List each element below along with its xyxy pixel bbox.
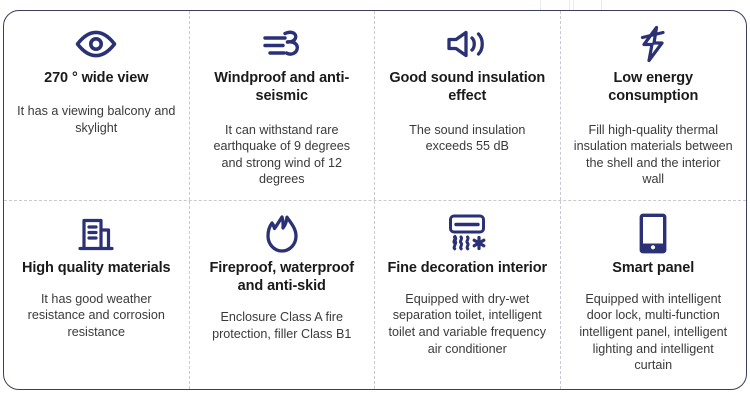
wind-icon (261, 21, 303, 67)
speaker-icon (445, 21, 489, 67)
feature-title: Fine decoration interior (385, 259, 549, 277)
feature-cell-windproof[interactable]: Windproof and anti-seismic It can withst… (190, 11, 376, 200)
feature-title: Good sound insulation effect (385, 69, 550, 106)
feature-row-top: 270 ° wide view It has a viewing balcony… (4, 11, 746, 201)
air-conditioner-icon (442, 211, 492, 257)
feature-cell-wide-view[interactable]: 270 ° wide view It has a viewing balcony… (4, 11, 190, 200)
feature-cell-high-quality-materials[interactable]: High quality materials It has good weath… (4, 201, 190, 390)
feature-cell-fine-decoration[interactable]: Fine decoration interior Equipped with d… (375, 201, 561, 390)
feature-description: It has a viewing balcony and skylight (14, 103, 179, 136)
feature-cell-smart-panel[interactable]: Smart panel Equipped with intelligent do… (561, 201, 747, 390)
feature-description: Equipped with dry-wet separation toilet,… (385, 291, 550, 357)
feature-title: High quality materials (20, 259, 172, 277)
feature-grid-stage: 270 ° wide view It has a viewing balcony… (0, 0, 750, 415)
feature-title: Windproof and anti-seismic (200, 69, 365, 106)
feature-title: Fireproof, waterproof and anti-skid (200, 259, 365, 296)
feature-cell-low-energy[interactable]: Low energy consumption Fill high-quality… (561, 11, 747, 200)
feature-cell-sound-insulation[interactable]: Good sound insulation effect The sound i… (375, 11, 561, 200)
feature-description: It has good weather resistance and corro… (14, 291, 179, 341)
feature-description: It can withstand rare earthquake of 9 de… (200, 122, 365, 188)
feature-title: 270 ° wide view (42, 69, 150, 87)
eye-icon (74, 21, 118, 67)
feature-card: 270 ° wide view It has a viewing balcony… (3, 10, 747, 390)
feature-description: Fill high-quality thermal insulation mat… (571, 122, 737, 188)
feature-description: Equipped with intelligent door lock, mul… (571, 291, 737, 374)
feature-title: Smart panel (610, 259, 696, 277)
smart-panel-icon (637, 211, 669, 257)
feature-row-bottom: High quality materials It has good weath… (4, 201, 746, 390)
feature-cell-fireproof[interactable]: Fireproof, waterproof and anti-skid Encl… (190, 201, 376, 390)
building-icon (77, 211, 115, 257)
flame-icon (265, 211, 299, 257)
lightning-bolt-icon (637, 21, 669, 67)
feature-title: Low energy consumption (571, 69, 737, 106)
feature-description: Enclosure Class A fire protection, fille… (200, 309, 365, 342)
feature-description: The sound insulation exceeds 55 dB (385, 122, 550, 155)
